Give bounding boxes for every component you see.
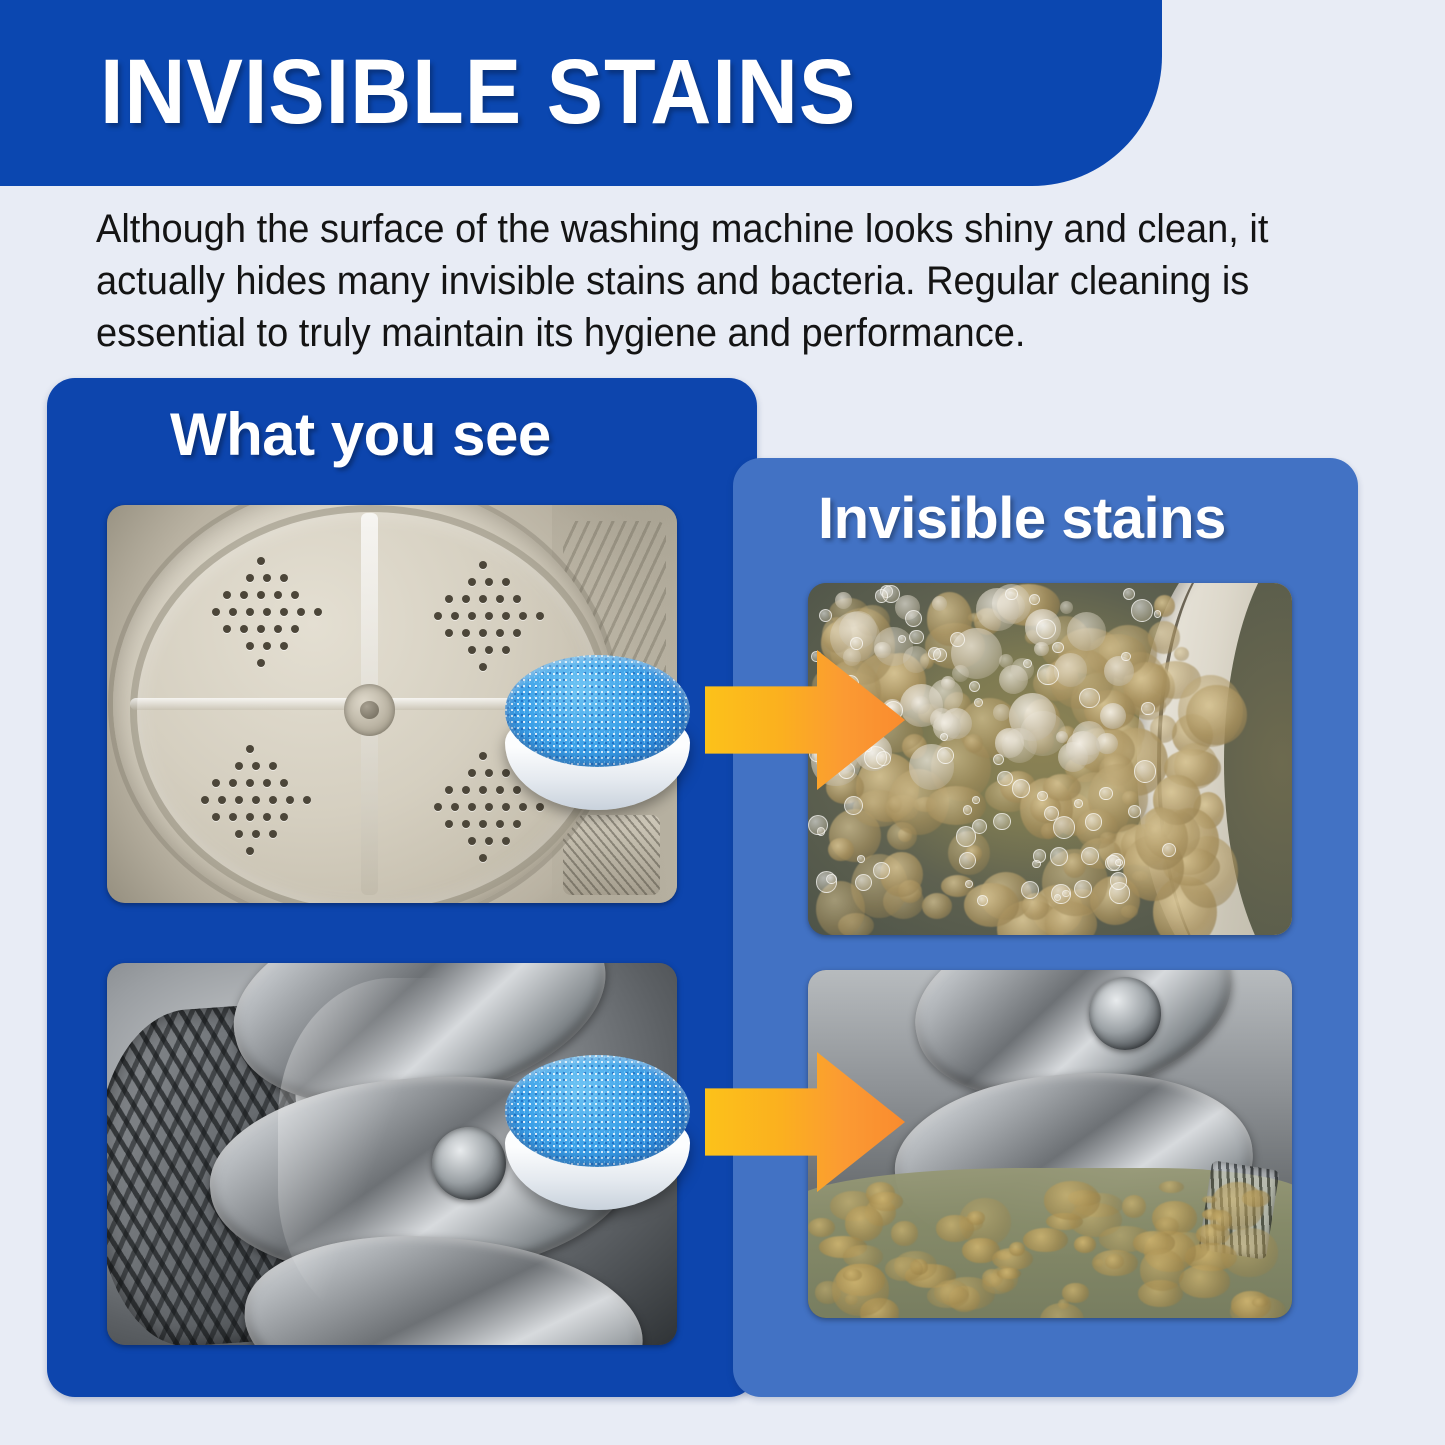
bubble	[1044, 806, 1059, 821]
dirty-drum-gunk-layer	[808, 970, 1292, 1318]
agitator-hole	[229, 779, 237, 787]
bubble	[819, 609, 832, 622]
bubble	[993, 754, 1004, 765]
agitator-hole	[229, 813, 237, 821]
agitator-hole	[246, 745, 254, 753]
foam-blob	[903, 646, 930, 673]
bubble	[1134, 760, 1157, 783]
cleaning-tablet-bottom	[505, 1055, 690, 1210]
scum-blob	[828, 838, 853, 862]
bubble	[857, 855, 865, 863]
gunk-patch	[934, 1280, 969, 1306]
tablet-surface-top	[505, 655, 690, 767]
agitator-filter-mesh	[563, 815, 660, 895]
gunk-patch	[1062, 1283, 1089, 1303]
photo-dirty-water	[808, 583, 1292, 935]
bubble	[1051, 884, 1070, 903]
tablet-surface-bottom	[505, 1055, 690, 1167]
bubble	[1037, 791, 1048, 802]
bubble	[876, 751, 891, 766]
dirty-water-scum-layer	[808, 583, 1292, 935]
bubble	[875, 589, 888, 602]
foam-blob	[1034, 642, 1048, 656]
agitator-hole	[280, 813, 288, 821]
gunk-patch	[1044, 1181, 1100, 1220]
bubble	[993, 813, 1010, 830]
gunk-patch	[1159, 1181, 1184, 1193]
gunk-patch	[1210, 1210, 1232, 1230]
bubble	[1099, 787, 1112, 800]
bubble	[1131, 599, 1153, 621]
bubble	[844, 796, 863, 815]
bubble	[963, 805, 973, 815]
bubble	[974, 698, 983, 707]
gunk-patch	[808, 1218, 835, 1237]
bubble	[1121, 652, 1130, 661]
foam-blob	[1104, 656, 1135, 687]
agitator-hole	[201, 796, 209, 804]
agitator-hole	[235, 796, 243, 804]
gunk-patch	[967, 1211, 985, 1225]
agitator-hole	[246, 813, 254, 821]
infographic-stage: INVISIBLE STAINS Although the surface of…	[0, 0, 1445, 1445]
agitator-hole	[212, 779, 220, 787]
bubble	[1110, 872, 1128, 890]
bubble	[826, 874, 837, 885]
gunk-patch	[891, 1221, 918, 1246]
photo-dirty-drum	[808, 970, 1292, 1318]
gunk-patch	[1009, 1242, 1025, 1256]
agitator-hole	[246, 779, 254, 787]
bubble	[808, 815, 828, 835]
gunk-patch	[1040, 1303, 1084, 1318]
bubble	[855, 874, 872, 891]
agitator-hole	[263, 779, 271, 787]
bubble	[972, 819, 987, 834]
foam-blob	[1002, 728, 1037, 763]
gunk-patch	[1140, 1249, 1184, 1290]
bubble	[1123, 588, 1135, 600]
foam-blob	[911, 696, 929, 714]
agitator-hole	[246, 847, 254, 855]
foam-blob	[835, 592, 852, 609]
gunk-patch	[1179, 1265, 1230, 1297]
foam-blob	[993, 704, 1010, 721]
bubble	[972, 796, 980, 804]
cleaning-tablet-top	[505, 655, 690, 810]
agitator-hole	[303, 796, 311, 804]
gunk-patch	[845, 1206, 883, 1241]
header-banner: INVISIBLE STAINS	[0, 0, 1162, 186]
scum-blob	[1174, 647, 1189, 661]
agitator-hole	[235, 830, 243, 838]
dirty-water-image	[808, 583, 1292, 935]
agitator-hole	[286, 796, 294, 804]
agitator-hole	[269, 762, 277, 770]
page-title: INVISIBLE STAINS	[100, 44, 856, 140]
bubble	[1021, 881, 1039, 899]
agitator-hole	[218, 796, 226, 804]
bubble	[1050, 847, 1069, 866]
bubble	[1074, 880, 1092, 898]
bubble	[940, 733, 948, 741]
bubble	[1081, 847, 1099, 865]
bubble	[1154, 610, 1162, 618]
agitator-hole	[269, 830, 277, 838]
bubble	[959, 852, 976, 869]
gunk-patch	[1105, 1254, 1124, 1268]
bubble	[909, 630, 923, 644]
bubble	[850, 637, 863, 650]
gunk-patch	[1074, 1236, 1096, 1253]
scum-blob	[1135, 808, 1187, 870]
gunk-patch	[1202, 1196, 1217, 1203]
gunk-patch	[1023, 1228, 1068, 1252]
intro-paragraph: Although the surface of the washing mach…	[96, 203, 1322, 359]
bubble	[1052, 642, 1063, 653]
bubble	[905, 610, 922, 627]
scum-blob	[922, 893, 952, 919]
foam-blob	[843, 648, 860, 665]
gunk-patch	[869, 1192, 903, 1211]
scum-blob	[1186, 685, 1247, 745]
foam-blob	[941, 676, 955, 690]
bubble	[873, 862, 889, 878]
bubble	[1141, 702, 1154, 715]
bubble	[977, 895, 988, 906]
agitator-hole	[252, 796, 260, 804]
bubble	[969, 681, 981, 693]
agitator-hole	[280, 779, 288, 787]
gunk-patch	[1221, 1228, 1278, 1277]
scum-blob	[964, 734, 983, 753]
agitator-center-screw	[360, 701, 379, 719]
agitator-hole	[252, 830, 260, 838]
bubble	[1162, 843, 1176, 857]
agitator-hole	[212, 813, 220, 821]
panel-heading-what-you-see: What you see	[170, 400, 551, 469]
dirty-drum-image	[808, 970, 1292, 1318]
bubble	[1037, 664, 1058, 685]
gunk-patch	[885, 1257, 922, 1281]
bubble	[937, 747, 954, 764]
agitator-hole	[263, 813, 271, 821]
agitator-hole	[235, 762, 243, 770]
gunk-patch	[843, 1269, 861, 1281]
bubble	[1053, 816, 1075, 838]
gunk-patch	[997, 1268, 1020, 1280]
agitator-hole	[269, 796, 277, 804]
agitator-hole	[252, 762, 260, 770]
gunk-patch	[1122, 1195, 1147, 1219]
foam-blob	[1054, 653, 1088, 687]
panel-heading-invisible-stains: Invisible stains	[818, 485, 1226, 552]
gunk-patch	[1252, 1298, 1267, 1307]
bubble	[1032, 860, 1040, 868]
bubble	[997, 771, 1012, 786]
foam-blob	[1060, 601, 1073, 614]
